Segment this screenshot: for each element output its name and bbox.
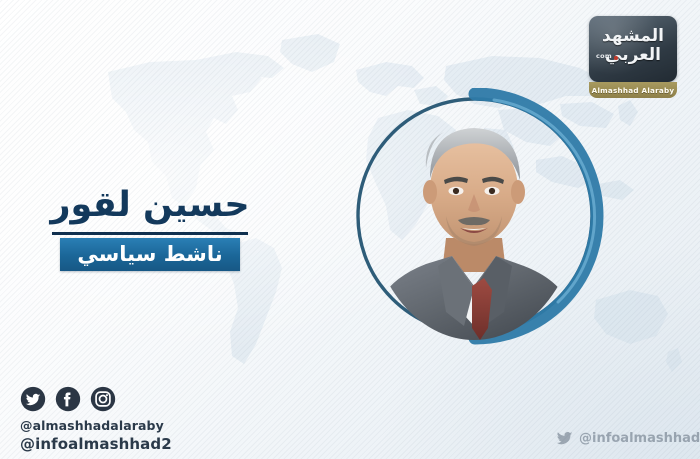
identity-block: حسين لقور ناشط سياسي (0, 186, 300, 271)
social-icon-row (20, 386, 250, 412)
social-handle-primary[interactable]: @almashhadalaraby (20, 418, 250, 435)
facebook-icon[interactable] (55, 386, 81, 412)
logo-caption: Almashhad Alaraby (589, 82, 677, 98)
logo-arabic-line1: المشهد (589, 28, 677, 45)
social-footer: @almashhadalaraby @infoalmashhad2 (20, 386, 250, 454)
watermark-handle: @infoalmashhad2 (579, 431, 700, 446)
twitter-watermark: @infoalmashhad2 (556, 430, 700, 447)
logo-com-label: com (596, 52, 612, 60)
promo-card: المشهد العربي com Almashhad Alaraby حسين… (0, 0, 700, 459)
brand-logo[interactable]: المشهد العربي com Almashhad Alaraby (589, 16, 677, 98)
person-name: حسين لقور (0, 186, 300, 225)
social-handle-secondary[interactable]: @infoalmashhad2 (20, 435, 250, 455)
logo-tile: المشهد العربي com (589, 16, 677, 82)
portrait-photo (368, 90, 580, 340)
name-underline (52, 232, 248, 235)
portrait-container (344, 88, 606, 346)
role-banner: ناشط سياسي (60, 238, 240, 271)
instagram-icon[interactable] (90, 386, 116, 412)
role-label: ناشط سياسي (77, 244, 222, 265)
logo-red-dot (614, 56, 618, 60)
twitter-bird-icon (556, 430, 573, 447)
twitter-icon[interactable] (20, 386, 46, 412)
